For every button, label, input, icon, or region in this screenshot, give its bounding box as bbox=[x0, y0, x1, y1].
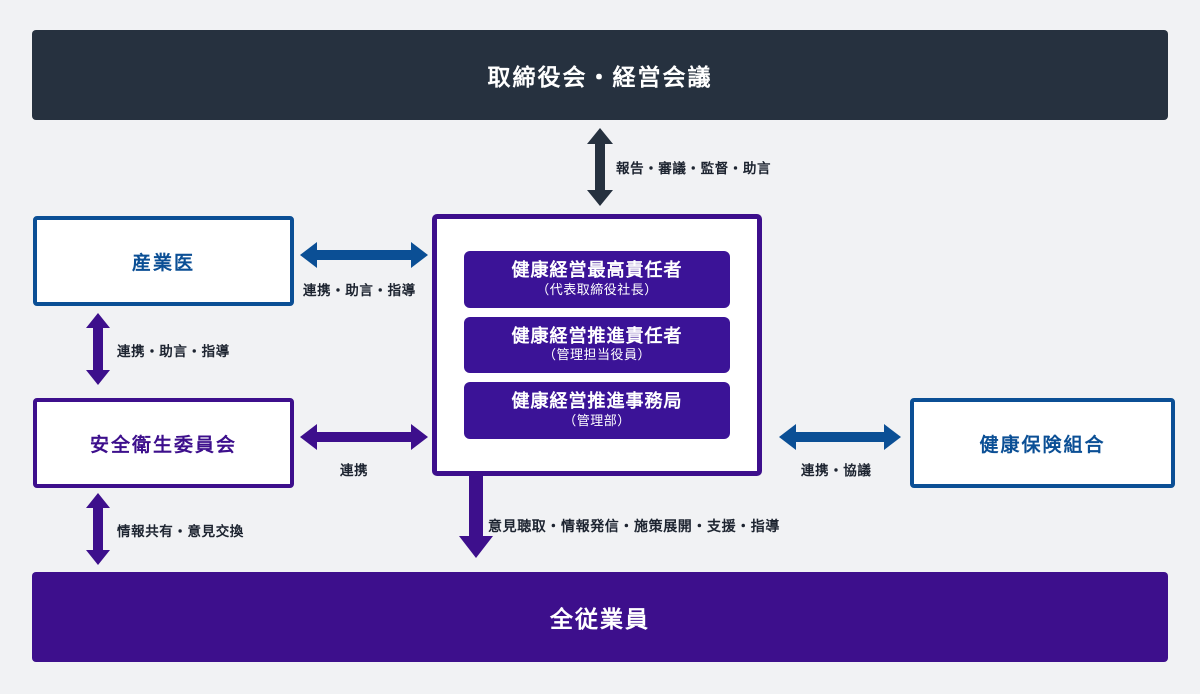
health-management-group: 健康経営最高責任者 （代表取締役社長） 健康経営推進責任者 （管理担当役員） 健… bbox=[432, 214, 762, 476]
role-card-chief-health-officer: 健康経営最高責任者 （代表取締役社長） bbox=[464, 251, 730, 308]
role-card-promotion-office: 健康経営推進事務局 （管理部） bbox=[464, 382, 730, 439]
box-occupational-physician-label: 産業医 bbox=[132, 248, 195, 275]
role-title-chief-health-officer: 健康経営最高責任者 bbox=[464, 260, 730, 281]
role-title-promotion-manager: 健康経営推進責任者 bbox=[464, 326, 730, 347]
arrow-label-committee-to-employees: 情報共有・意見交換 bbox=[117, 520, 244, 540]
board-of-directors-banner: 取締役会・経営会議 bbox=[32, 30, 1168, 120]
arrow-label-committee-to-center: 連携 bbox=[340, 459, 368, 479]
role-card-promotion-manager: 健康経営推進責任者 （管理担当役員） bbox=[464, 317, 730, 374]
box-safety-health-committee-label: 安全衛生委員会 bbox=[90, 430, 237, 457]
box-health-insurance-association: 健康保険組合 bbox=[910, 398, 1175, 488]
role-subtitle-chief-health-officer: （代表取締役社長） bbox=[464, 283, 730, 298]
board-of-directors-label: 取締役会・経営会議 bbox=[488, 58, 713, 92]
arrow-committee-to-employees bbox=[85, 493, 111, 565]
arrow-label-center-to-insurance: 連携・協議 bbox=[801, 459, 872, 479]
role-subtitle-promotion-manager: （管理担当役員） bbox=[464, 348, 730, 363]
all-employees-banner: 全従業員 bbox=[32, 572, 1168, 662]
org-diagram: 取締役会・経営会議 報告・審議・監督・助言 産業医 連携・助言・指導 連携・助言… bbox=[0, 0, 1200, 694]
arrow-label-physician-to-center: 連携・助言・指導 bbox=[303, 279, 416, 299]
arrow-label-center-to-employees: 意見聴取・情報発信・施策展開・支援・指導 bbox=[488, 516, 780, 536]
arrow-board-to-center bbox=[586, 128, 614, 206]
role-subtitle-promotion-office: （管理部） bbox=[464, 414, 730, 429]
box-safety-health-committee: 安全衛生委員会 bbox=[33, 398, 294, 488]
arrow-label-physician-to-committee: 連携・助言・指導 bbox=[117, 340, 230, 360]
arrow-center-to-insurance bbox=[779, 423, 901, 451]
arrow-committee-to-center bbox=[300, 423, 428, 451]
arrow-physician-to-center bbox=[300, 241, 428, 269]
arrow-physician-to-committee bbox=[85, 313, 111, 385]
box-occupational-physician: 産業医 bbox=[33, 216, 294, 306]
all-employees-label: 全従業員 bbox=[550, 600, 650, 634]
arrow-label-board-to-center: 報告・審議・監督・助言 bbox=[616, 157, 771, 177]
box-health-insurance-association-label: 健康保険組合 bbox=[979, 430, 1105, 457]
role-title-promotion-office: 健康経営推進事務局 bbox=[464, 391, 730, 412]
